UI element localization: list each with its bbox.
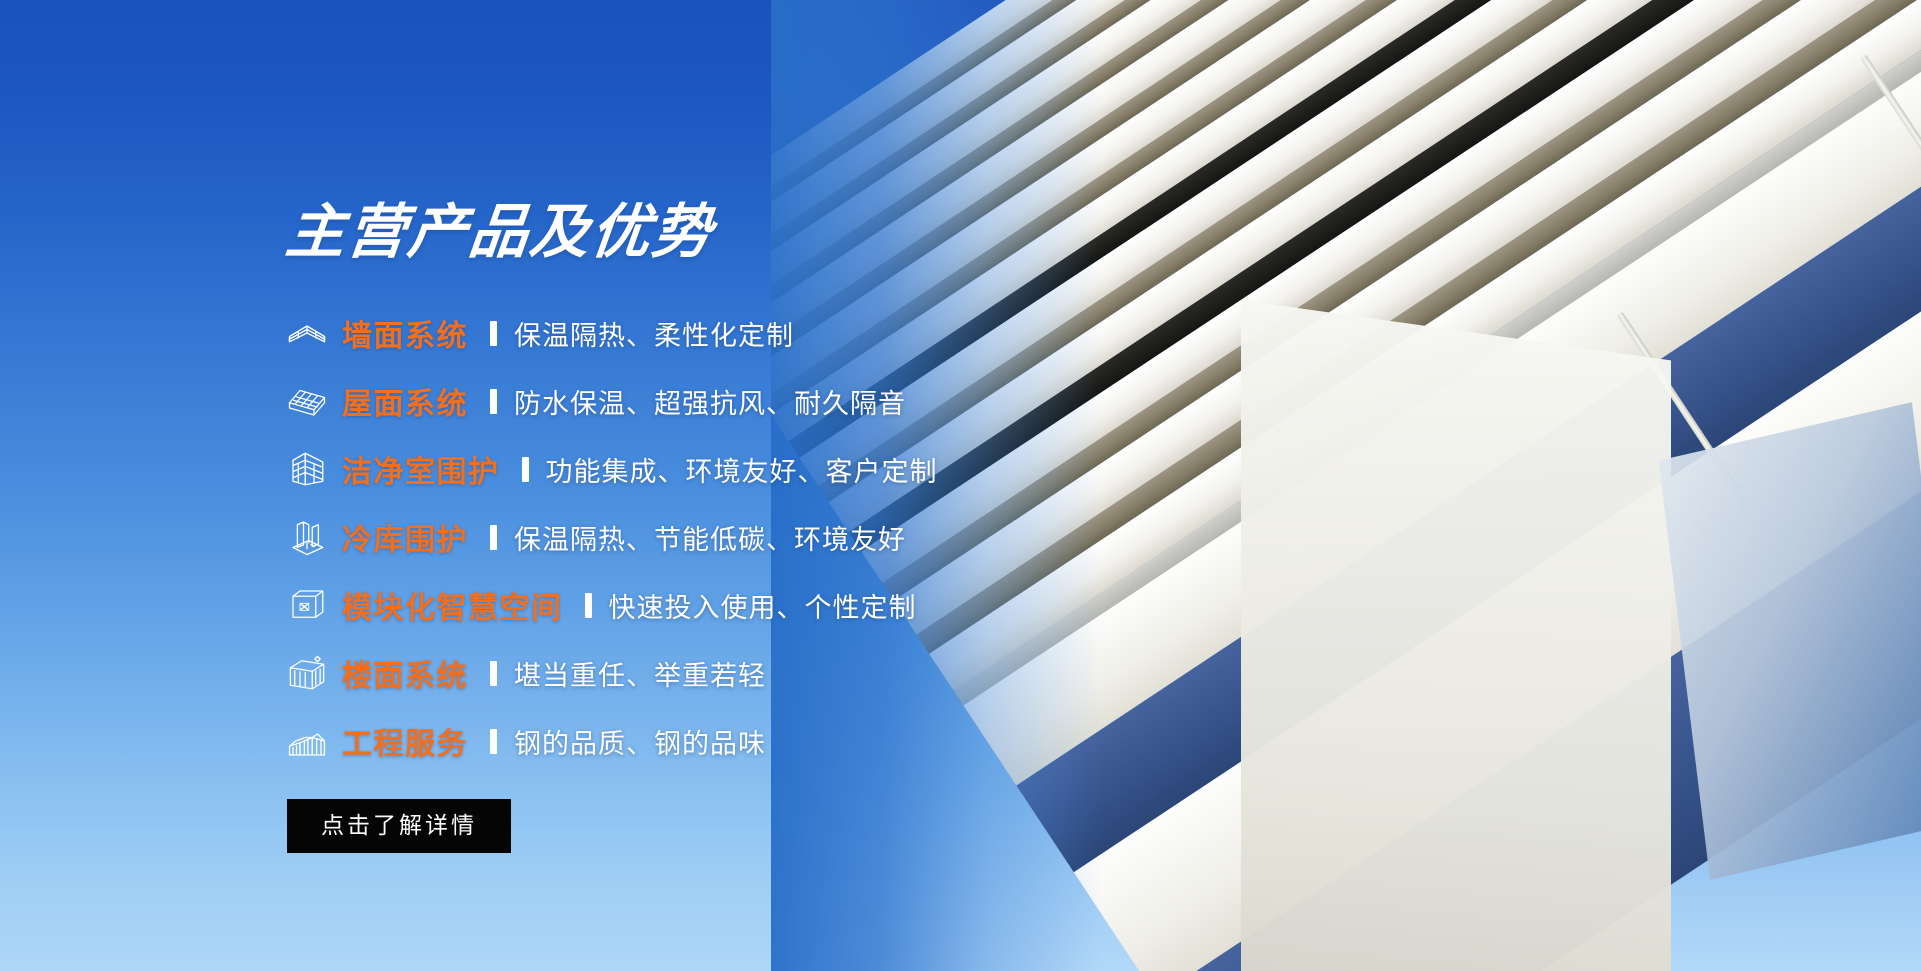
feature-title: 冷库围护 bbox=[342, 515, 468, 559]
list-item[interactable]: 冷库围护 保温隔热、节能低碳、环境友好 bbox=[286, 503, 1216, 571]
feature-separator bbox=[585, 593, 592, 618]
feature-title: 模块化智慧空间 bbox=[342, 583, 563, 627]
feature-description: 防水保温、超强抗风、耐久隔音 bbox=[514, 382, 906, 421]
learn-more-button[interactable]: 点击了解详情 bbox=[287, 799, 511, 853]
feature-separator bbox=[490, 321, 497, 346]
facade-left-corner bbox=[1241, 300, 1671, 971]
cleanroom-building-icon bbox=[286, 445, 342, 493]
floor-deck-icon bbox=[286, 649, 342, 697]
feature-title: 楼面系统 bbox=[342, 651, 468, 695]
feature-list: 墙面系统 保温隔热、柔性化定制 屋面系统 防水保温、超强抗风、耐久隔音 bbox=[286, 299, 1216, 775]
feature-separator bbox=[490, 389, 497, 414]
feature-description: 保温隔热、节能低碳、环境友好 bbox=[514, 518, 906, 557]
feature-description: 保温隔热、柔性化定制 bbox=[514, 314, 794, 353]
list-item[interactable]: 墙面系统 保温隔热、柔性化定制 bbox=[286, 299, 1216, 367]
feature-description: 钢的品质、钢的品味 bbox=[514, 722, 766, 761]
product-advantage-banner: 主营产品及优势 墙面系统 保温隔热、柔性化定制 bbox=[0, 0, 1921, 971]
feature-title: 屋面系统 bbox=[342, 379, 468, 423]
feature-separator bbox=[490, 525, 497, 550]
banner-content: 主营产品及优势 墙面系统 保温隔热、柔性化定制 bbox=[286, 0, 1286, 971]
roof-panel-icon bbox=[286, 377, 342, 425]
page-title: 主营产品及优势 bbox=[283, 203, 716, 262]
modular-cube-icon bbox=[286, 581, 342, 629]
list-item[interactable]: 屋面系统 防水保温、超强抗风、耐久隔音 bbox=[286, 367, 1216, 435]
list-item[interactable]: 模块化智慧空间 快速投入使用、个性定制 bbox=[286, 571, 1216, 639]
feature-title: 洁净室围护 bbox=[342, 447, 500, 491]
engineering-service-icon bbox=[286, 717, 342, 765]
wall-frame-icon bbox=[286, 309, 342, 357]
feature-title: 墙面系统 bbox=[342, 311, 468, 355]
feature-separator bbox=[490, 729, 497, 754]
list-item[interactable]: 楼面系统 堪当重任、举重若轻 bbox=[286, 639, 1216, 707]
feature-description: 功能集成、环境友好、客户定制 bbox=[546, 450, 938, 489]
feature-description: 堪当重任、举重若轻 bbox=[514, 654, 766, 693]
feature-separator bbox=[522, 457, 529, 482]
feature-title: 工程服务 bbox=[342, 719, 468, 763]
coldstore-enclosure-icon bbox=[286, 513, 342, 561]
list-item[interactable]: 工程服务 钢的品质、钢的品味 bbox=[286, 707, 1216, 775]
list-item[interactable]: 洁净室围护 功能集成、环境友好、客户定制 bbox=[286, 435, 1216, 503]
feature-description: 快速投入使用、个性定制 bbox=[609, 586, 917, 625]
feature-separator bbox=[490, 661, 497, 686]
